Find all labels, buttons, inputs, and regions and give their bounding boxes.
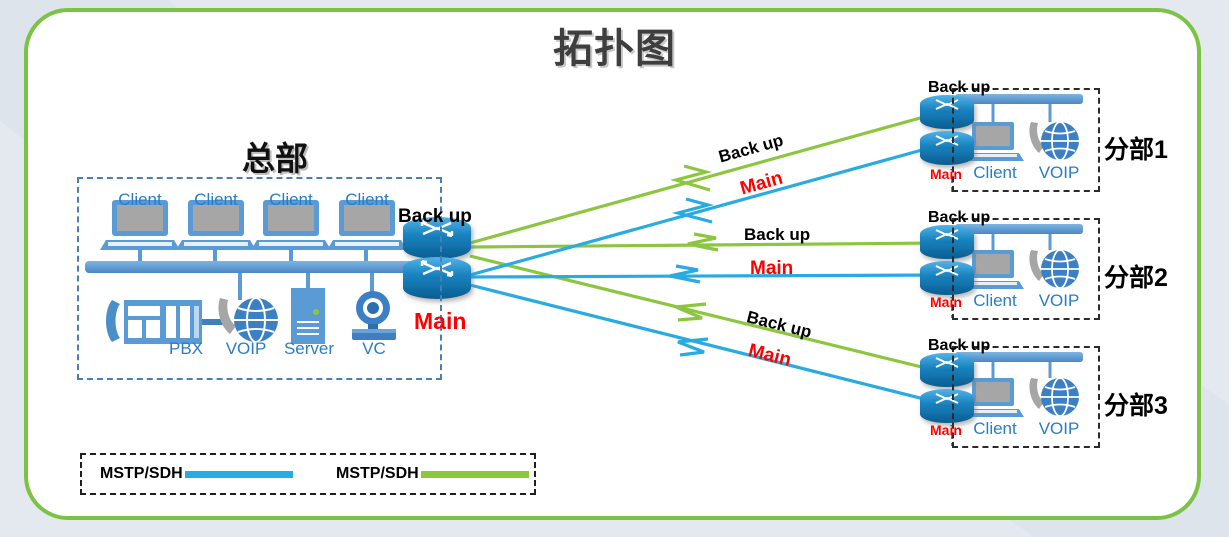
link-main-branch3 (470, 285, 944, 404)
page-title: 拓扑图 (0, 16, 1229, 74)
branch2-router-main-label: Main (930, 294, 962, 310)
branch2-router-backup-label: Back up (928, 209, 990, 227)
link-main-branch2-marker (670, 266, 700, 282)
branch3-router-main-label: Main (930, 422, 962, 438)
link-backup-branch2-label: Back up (744, 225, 810, 245)
legend-swatch-cyan (185, 471, 293, 478)
legend: MSTP/SDH MSTP/SDH (80, 453, 536, 495)
hq-client-3-label: Client (261, 191, 321, 209)
hq-client-4-label: Client (337, 191, 397, 209)
hq-client-1-label: Client (110, 191, 170, 209)
hq-server-label: Server (279, 339, 339, 358)
legend-label-2: MSTP/SDH (336, 465, 419, 483)
link-group-backup (470, 113, 942, 372)
hq-voip-label: VOIP (216, 339, 276, 358)
hq-vc-label: VC (344, 339, 404, 358)
hq-client-2-label: Client (186, 191, 246, 209)
link-backup-branch2-marker (688, 234, 718, 250)
link-backup-branch1 (470, 113, 938, 243)
link-main-branch2 (470, 275, 940, 277)
link-main-branch1 (470, 145, 940, 275)
branch1-router-backup-label: Back up (928, 79, 990, 97)
branch1-router-main-label: Main (930, 166, 962, 182)
link-main-branch2-label: Main (750, 258, 793, 280)
branch1-title: 分部1 (1104, 130, 1168, 166)
legend-item-mstp-sdh-backup: MSTP/SDH (336, 465, 529, 483)
legend-swatch-green (421, 471, 529, 478)
hq-router-main-label: Main (414, 308, 466, 335)
hq-pbx-label: PBX (156, 339, 216, 358)
legend-label-1: MSTP/SDH (100, 465, 183, 483)
link-backup-branch3 (470, 256, 942, 372)
link-main-branch3-marker (678, 339, 708, 355)
branch1-client-label: Client (967, 164, 1023, 182)
branch3-title: 分部3 (1104, 386, 1168, 422)
branch3-client-label: Client (967, 420, 1023, 438)
branch3-router-backup-label: Back up (928, 337, 990, 355)
hq-router-backup-label: Back up (398, 206, 472, 228)
branch3-voip-label: VOIP (1031, 420, 1087, 438)
headquarters-title: 总部 (175, 132, 375, 180)
branch2-voip-label: VOIP (1031, 292, 1087, 310)
legend-item-mstp-sdh-main: MSTP/SDH (100, 465, 293, 483)
branch1-voip-label: VOIP (1031, 164, 1087, 182)
topology-diagram: 拓扑图 总部 Client Client Client Client PBX V… (0, 0, 1229, 537)
branch2-client-label: Client (967, 292, 1023, 310)
branch2-title: 分部2 (1104, 258, 1168, 294)
